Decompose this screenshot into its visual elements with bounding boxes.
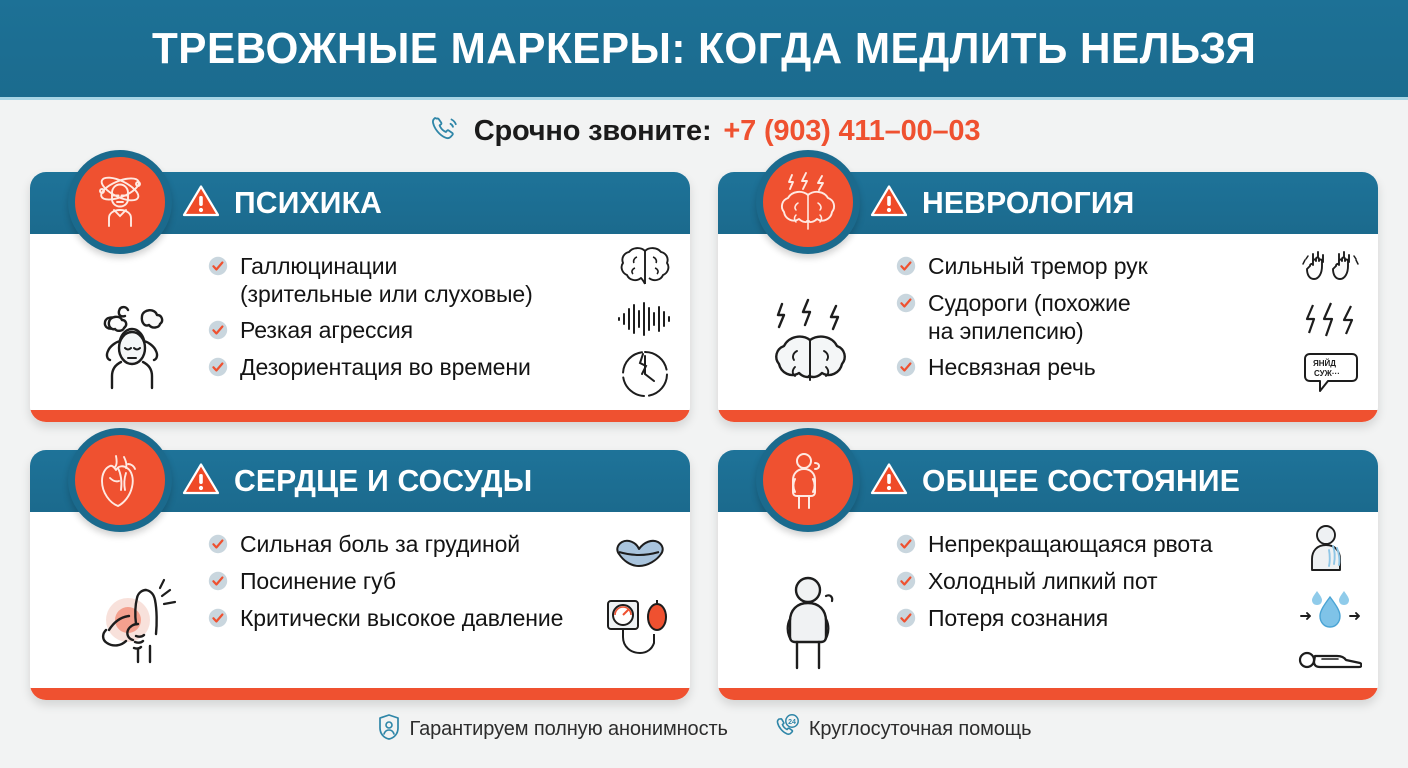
phone-call-icon xyxy=(428,112,462,151)
list-item: Сильный тремор рук xyxy=(896,252,1274,281)
svg-text:24: 24 xyxy=(788,719,796,726)
card-general-body: Непрекращающаяся рвота Холодный липкий п… xyxy=(718,512,1378,700)
card-psyche-title: ПСИХИКА xyxy=(234,185,382,221)
list-item: Потеря сознания xyxy=(896,604,1274,633)
warning-triangle-icon xyxy=(870,184,908,223)
list-item: Холодный липкий пот xyxy=(896,567,1274,596)
symptom-card-grid: ПСИХИКА xyxy=(0,172,1408,700)
card-general-list: Непрекращающаяся рвота Холодный липкий п… xyxy=(896,530,1274,633)
check-circle-icon xyxy=(208,534,228,559)
card-psyche-side-icons xyxy=(616,246,674,405)
list-item: Судороги (похожие на эпилепсию) xyxy=(896,289,1274,345)
heart-anatomy-icon xyxy=(68,428,172,532)
check-circle-icon xyxy=(896,256,916,281)
person-nausea-icon xyxy=(756,428,860,532)
page-title: ТРЕВОЖНЫЕ МАРКЕРЫ: КОГДА МЕДЛИТЬ НЕЛЬЗЯ xyxy=(152,24,1256,74)
phone-24h-icon: 24 xyxy=(774,713,800,746)
lying-person-icon xyxy=(1298,646,1362,677)
garbled-speech-bubble-icon: ЯНЙД СУЖ··· xyxy=(1302,350,1360,399)
person-holding-head-icon xyxy=(76,296,188,397)
list-item-text: Сильная боль за грудиной xyxy=(240,530,520,558)
footer-trust-row: Гарантируем полную анонимность 24 Кругло… xyxy=(0,713,1408,746)
list-item: Галлюцинации (зрительные или слуховые) xyxy=(208,252,586,308)
card-neurology-title: НЕВРОЛОГИЯ xyxy=(922,185,1134,221)
standing-person-icon xyxy=(764,574,868,677)
shield-person-icon xyxy=(377,713,401,746)
blue-lips-icon xyxy=(608,536,670,575)
card-psyche: ПСИХИКА xyxy=(30,172,690,422)
footer-item-24h: 24 Круглосуточная помощь xyxy=(774,713,1032,746)
water-droplets-icon xyxy=(1299,587,1361,636)
footer-text-anonymity: Гарантируем полную анонимность xyxy=(410,718,728,741)
card-neurology-body: Сильный тремор рук Судороги (похожие на … xyxy=(718,234,1378,422)
trembling-hands-icon xyxy=(1300,246,1362,295)
list-item-text: Несвязная речь xyxy=(928,353,1096,381)
phone-label: Срочно звоните: xyxy=(474,115,712,148)
warning-triangle-icon xyxy=(870,462,908,501)
check-circle-icon xyxy=(208,320,228,345)
check-circle-icon xyxy=(896,608,916,633)
list-item-text: Посинение губ xyxy=(240,567,396,595)
card-heart-list: Сильная боль за грудиной Посинение губ К… xyxy=(208,530,586,633)
phone-cta-row: Срочно звоните: +7 (903) 411–00–03 xyxy=(0,100,1408,162)
sound-wave-icon xyxy=(616,301,674,342)
blood-pressure-monitor-icon xyxy=(604,597,674,662)
list-item-text: Непрекращающаяся рвота xyxy=(928,530,1212,558)
card-neurology-list: Сильный тремор рук Судороги (похожие на … xyxy=(896,252,1274,382)
list-item-text: Судороги (похожие на эпилепсию) xyxy=(928,289,1131,345)
card-neurology: НЕВРОЛОГИЯ xyxy=(718,172,1378,422)
sweating-person-icon xyxy=(1302,524,1358,577)
card-psyche-list: Галлюцинации (зрительные или слуховые) Р… xyxy=(208,252,586,382)
brain-lightning-icon xyxy=(756,150,860,254)
check-circle-icon xyxy=(208,357,228,382)
check-circle-icon xyxy=(896,571,916,596)
dizzy-head-icon xyxy=(68,150,172,254)
card-accent-bar xyxy=(718,410,1378,422)
card-accent-bar xyxy=(30,688,690,700)
list-item-text: Потеря сознания xyxy=(928,604,1108,632)
card-heart: СЕРДЦЕ И СОСУДЫ xyxy=(30,450,690,700)
card-accent-bar xyxy=(718,688,1378,700)
check-circle-icon xyxy=(208,256,228,281)
brain-icon xyxy=(618,246,672,295)
check-circle-icon xyxy=(208,571,228,596)
list-item: Непрекращающаяся рвота xyxy=(896,530,1274,559)
warning-triangle-icon xyxy=(182,184,220,223)
list-item-text: Холодный липкий пот xyxy=(928,567,1157,595)
chest-pain-person-icon xyxy=(76,574,192,675)
list-item: Резкая агрессия xyxy=(208,316,586,345)
list-item-text: Сильный тремор рук xyxy=(928,252,1148,280)
list-item-text: Критически высокое давление xyxy=(240,604,563,632)
broken-clock-icon xyxy=(619,348,671,405)
lightning-bolts-icon xyxy=(1301,301,1361,344)
card-accent-bar xyxy=(30,410,690,422)
card-general-title: ОБЩЕЕ СОСТОЯНИЕ xyxy=(922,463,1240,499)
svg-text:ЯНЙД: ЯНЙД xyxy=(1313,359,1336,368)
footer-item-anonymity: Гарантируем полную анонимность xyxy=(377,713,728,746)
header-band: ТРЕВОЖНЫЕ МАРКЕРЫ: КОГДА МЕДЛИТЬ НЕЛЬЗЯ xyxy=(0,0,1408,100)
brain-with-bolts-icon xyxy=(764,296,876,401)
list-item: Сильная боль за грудиной xyxy=(208,530,586,559)
card-psyche-body: Галлюцинации (зрительные или слуховые) Р… xyxy=(30,234,690,422)
check-circle-icon xyxy=(896,534,916,559)
phone-number[interactable]: +7 (903) 411–00–03 xyxy=(723,115,980,148)
footer-text-24h: Круглосуточная помощь xyxy=(809,718,1032,741)
warning-triangle-icon xyxy=(182,462,220,501)
card-general-side-icons xyxy=(1298,524,1362,677)
list-item: Критически высокое давление xyxy=(208,604,586,633)
card-general: ОБЩЕЕ СОСТОЯНИЕ xyxy=(718,450,1378,700)
card-heart-side-icons xyxy=(604,536,674,662)
list-item-text: Галлюцинации (зрительные или слуховые) xyxy=(240,252,533,308)
svg-text:СУЖ···: СУЖ··· xyxy=(1314,369,1340,378)
check-circle-icon xyxy=(896,293,916,318)
list-item: Посинение губ xyxy=(208,567,586,596)
list-item-text: Дезориентация во времени xyxy=(240,353,531,381)
check-circle-icon xyxy=(208,608,228,633)
list-item: Несвязная речь xyxy=(896,353,1274,382)
card-heart-body: Сильная боль за грудиной Посинение губ К… xyxy=(30,512,690,700)
check-circle-icon xyxy=(896,357,916,382)
list-item: Дезориентация во времени xyxy=(208,353,586,382)
list-item-text: Резкая агрессия xyxy=(240,316,413,344)
card-heart-title: СЕРДЦЕ И СОСУДЫ xyxy=(234,463,532,499)
card-neurology-side-icons: ЯНЙД СУЖ··· xyxy=(1300,246,1362,399)
